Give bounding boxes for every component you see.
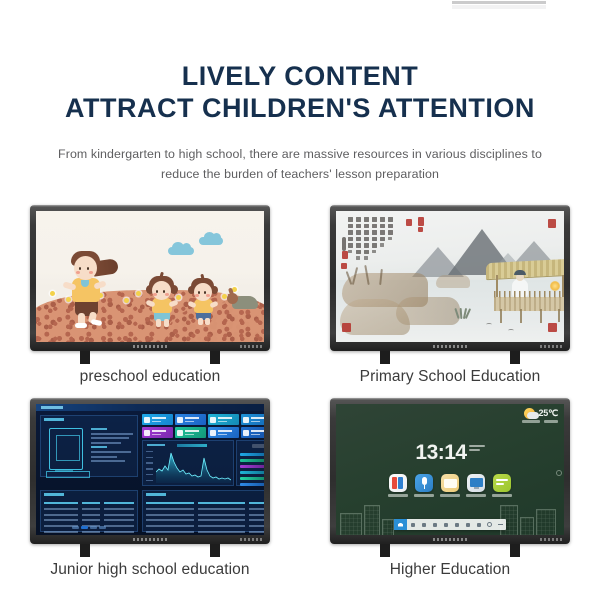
table-row[interactable] — [44, 507, 134, 511]
minimize-icon[interactable] — [495, 524, 506, 526]
stand-leg-left — [80, 544, 90, 557]
child-illustration-large — [64, 250, 118, 326]
app-label — [414, 494, 434, 497]
stat-card[interactable] — [142, 427, 173, 438]
brush-stroke-mark — [342, 237, 346, 251]
monitor-bezel — [330, 205, 570, 351]
book-app-icon — [389, 474, 407, 492]
table-row[interactable] — [44, 518, 134, 522]
bezel-button-group-right[interactable] — [540, 345, 562, 348]
red-seal-icon — [548, 323, 557, 332]
monitor-stands — [30, 351, 270, 364]
bezel-button-group-right[interactable] — [540, 538, 562, 541]
bezel-controls — [330, 342, 570, 350]
monitor-primary[interactable] — [330, 205, 570, 364]
screen-dashboard[interactable] — [36, 404, 264, 535]
stat-card[interactable] — [175, 427, 206, 438]
screen-share-app-icon — [467, 474, 485, 492]
subtitle-text: From kindergarten to high school, there … — [50, 144, 550, 184]
redo-icon[interactable] — [473, 523, 484, 527]
clock-date — [469, 445, 485, 453]
clock-widget: 13:14 — [336, 441, 564, 465]
microphone-app-icon — [415, 474, 433, 492]
stat-card-grid[interactable] — [142, 414, 264, 438]
table-rows — [44, 501, 134, 535]
table-rows — [146, 501, 264, 535]
device-spec-list — [91, 428, 135, 465]
monitor-junior[interactable] — [30, 398, 270, 557]
flower-icon — [50, 291, 55, 296]
headline-line-1: LIVELY CONTENT — [0, 62, 600, 90]
monitor-stands — [330, 544, 570, 557]
legend-row — [240, 453, 264, 456]
app-label — [492, 494, 512, 497]
legend-row — [240, 459, 264, 462]
app-label — [466, 494, 486, 497]
cloud-icon — [199, 237, 223, 245]
chart-title — [147, 444, 165, 446]
pavilion-post — [540, 309, 542, 323]
pavilion-illustration — [486, 261, 564, 323]
pen-icon[interactable] — [418, 523, 429, 527]
weather-widget[interactable]: 25℃ — [524, 408, 558, 419]
screen-android-home[interactable]: 25℃ 13:14 — [336, 404, 564, 535]
panel-heading — [44, 493, 64, 496]
stat-card[interactable] — [241, 427, 264, 438]
table-row[interactable] — [146, 524, 264, 528]
top-edge-artifact-shadow — [452, 5, 546, 9]
table-row[interactable] — [146, 507, 264, 511]
area-chart-svg — [156, 450, 231, 483]
table-pagination[interactable] — [72, 526, 106, 529]
legend-row — [240, 477, 264, 480]
app-dock[interactable] — [336, 474, 564, 497]
table-row[interactable] — [44, 513, 134, 517]
building-shape — [382, 519, 394, 535]
select-icon[interactable] — [451, 523, 462, 527]
reed-grass — [454, 307, 470, 319]
panel-primary: Primary School Education — [300, 205, 600, 386]
bezel-button-group-center[interactable] — [133, 538, 167, 541]
chart-legend-panel[interactable] — [236, 440, 264, 486]
stat-card[interactable] — [175, 414, 206, 425]
data-table-left[interactable] — [40, 490, 138, 532]
bezel-controls — [30, 342, 270, 350]
stand-leg-right — [210, 351, 220, 364]
app-book[interactable] — [388, 474, 408, 497]
stand-leg-left — [380, 544, 390, 557]
device-schematic — [49, 428, 83, 470]
panel-caption-higher: Higher Education — [390, 561, 511, 579]
bird-mark — [486, 323, 492, 326]
stand-leg-left — [380, 351, 390, 364]
stand-leg-right — [210, 544, 220, 557]
panel-higher: 25℃ 13:14 — [300, 398, 600, 579]
panel-caption-junior: Junior high school education — [50, 561, 249, 579]
stat-card[interactable] — [208, 414, 239, 425]
panel-heading — [146, 493, 166, 496]
bezel-controls — [330, 535, 570, 543]
pavilion-deck — [494, 297, 564, 311]
table-row[interactable] — [146, 518, 264, 522]
rock-shape — [436, 275, 470, 288]
bezel-button-group-center[interactable] — [433, 345, 467, 348]
app-screen-share[interactable] — [466, 474, 486, 497]
table-row — [44, 501, 134, 505]
screen-ink-painting[interactable] — [336, 211, 564, 342]
table-row — [146, 501, 264, 505]
pavilion-post — [500, 309, 502, 323]
stand-leg-left — [80, 351, 90, 364]
red-seal-icon — [342, 251, 348, 259]
weather-meta — [522, 420, 558, 423]
home-icon[interactable] — [394, 519, 407, 530]
promo-page: LIVELY CONTENT ATTRACT CHILDREN'S ATTENT… — [0, 0, 600, 600]
panel-caption-primary: Primary School Education — [360, 368, 541, 386]
monitor-preschool[interactable] — [30, 205, 270, 364]
building-shape — [340, 513, 362, 535]
red-seal-icon — [418, 227, 423, 232]
red-seal-icon — [418, 217, 424, 226]
dashboard-title-text — [41, 406, 63, 409]
side-menu-button[interactable] — [556, 470, 562, 476]
monitor-stands — [30, 544, 270, 557]
legend-row — [240, 465, 264, 468]
pavilion-post — [520, 309, 522, 323]
sun-behind-cloud-icon — [524, 408, 535, 419]
monitor-bezel: 25℃ 13:14 — [330, 398, 570, 544]
bezel-button-group-right[interactable] — [240, 345, 262, 348]
stand-leg-right — [510, 351, 520, 364]
chart-subtitle-band — [177, 444, 207, 447]
calligraphy-columns — [348, 217, 393, 260]
pavilion-post — [558, 309, 560, 322]
red-seal-icon — [341, 263, 347, 269]
monitor-row-2: Junior high school education — [0, 398, 600, 579]
chart-y-axis — [146, 451, 154, 481]
stat-card[interactable] — [142, 414, 173, 425]
table-row[interactable] — [146, 513, 264, 517]
legend-rows — [240, 453, 264, 489]
stat-card[interactable] — [241, 414, 264, 425]
stat-card[interactable] — [208, 427, 239, 438]
monitor-row-1: preschool education — [0, 205, 600, 386]
chart-plot-area — [156, 450, 231, 483]
device-label — [55, 470, 73, 472]
bezel-button-group-center[interactable] — [433, 538, 467, 541]
bird-mark — [508, 329, 514, 332]
stand-leg-right — [510, 544, 520, 557]
device-info-panel — [40, 415, 138, 477]
page-title: LIVELY CONTENT ATTRACT CHILDREN'S ATTENT… — [0, 62, 600, 122]
screen-preschool-illustration[interactable] — [36, 211, 264, 342]
child-illustration-small — [188, 278, 222, 326]
app-folder[interactable] — [440, 474, 460, 497]
flower-icon — [124, 298, 129, 303]
app-label — [388, 494, 408, 497]
back-icon[interactable] — [407, 523, 418, 527]
building-shape — [536, 509, 556, 535]
red-seal-icon — [548, 219, 556, 228]
circle-icon[interactable] — [484, 522, 495, 527]
monitor-stands — [330, 351, 570, 364]
temperature-value: 25℃ — [538, 408, 558, 419]
bezel-controls — [30, 535, 270, 543]
top-edge-artifact — [452, 1, 546, 4]
shapes-icon[interactable] — [440, 523, 451, 527]
monitor-bezel — [30, 205, 270, 351]
notes-app-icon — [493, 474, 511, 492]
panel-junior: Junior high school education — [0, 398, 300, 579]
app-microphone[interactable] — [414, 474, 434, 497]
area-chart-panel[interactable] — [142, 440, 234, 486]
bottom-taskbar[interactable] — [394, 519, 506, 530]
lantern-icon — [550, 281, 560, 291]
red-seal-icon — [406, 219, 412, 226]
legend-row — [240, 483, 264, 486]
red-seal-icon — [342, 323, 351, 332]
headline-line-2: ATTRACT CHILDREN'S ATTENTION — [0, 94, 600, 122]
panel-caption-preschool: preschool education — [80, 368, 221, 386]
legend-header-chip — [252, 444, 264, 448]
cloud-icon — [168, 247, 194, 255]
panel-heading — [44, 418, 64, 421]
building-shape — [364, 505, 380, 535]
undo-icon[interactable] — [462, 523, 473, 527]
child-illustration-medium — [146, 276, 182, 328]
table-row[interactable] — [44, 530, 134, 534]
hedgehog-illustration — [232, 296, 258, 309]
panel-preschool: preschool education — [0, 205, 300, 386]
flower-icon — [136, 291, 141, 296]
bezel-button-group-center[interactable] — [133, 345, 167, 348]
dashboard-title-bar — [36, 404, 264, 411]
eraser-icon[interactable] — [429, 523, 440, 527]
monitor-higher[interactable]: 25℃ 13:14 — [330, 398, 570, 557]
monitor-bezel — [30, 398, 270, 544]
legend-row — [240, 471, 264, 474]
app-label — [440, 494, 460, 497]
data-table-right[interactable] — [142, 490, 264, 532]
monitor-grid: preschool education — [0, 205, 600, 579]
app-notes[interactable] — [492, 474, 512, 497]
table-row[interactable] — [146, 530, 264, 534]
bezel-button-group-right[interactable] — [240, 538, 262, 541]
folder-app-icon — [441, 474, 459, 492]
building-shape — [520, 517, 534, 535]
clock-time: 13:14 — [415, 441, 466, 464]
